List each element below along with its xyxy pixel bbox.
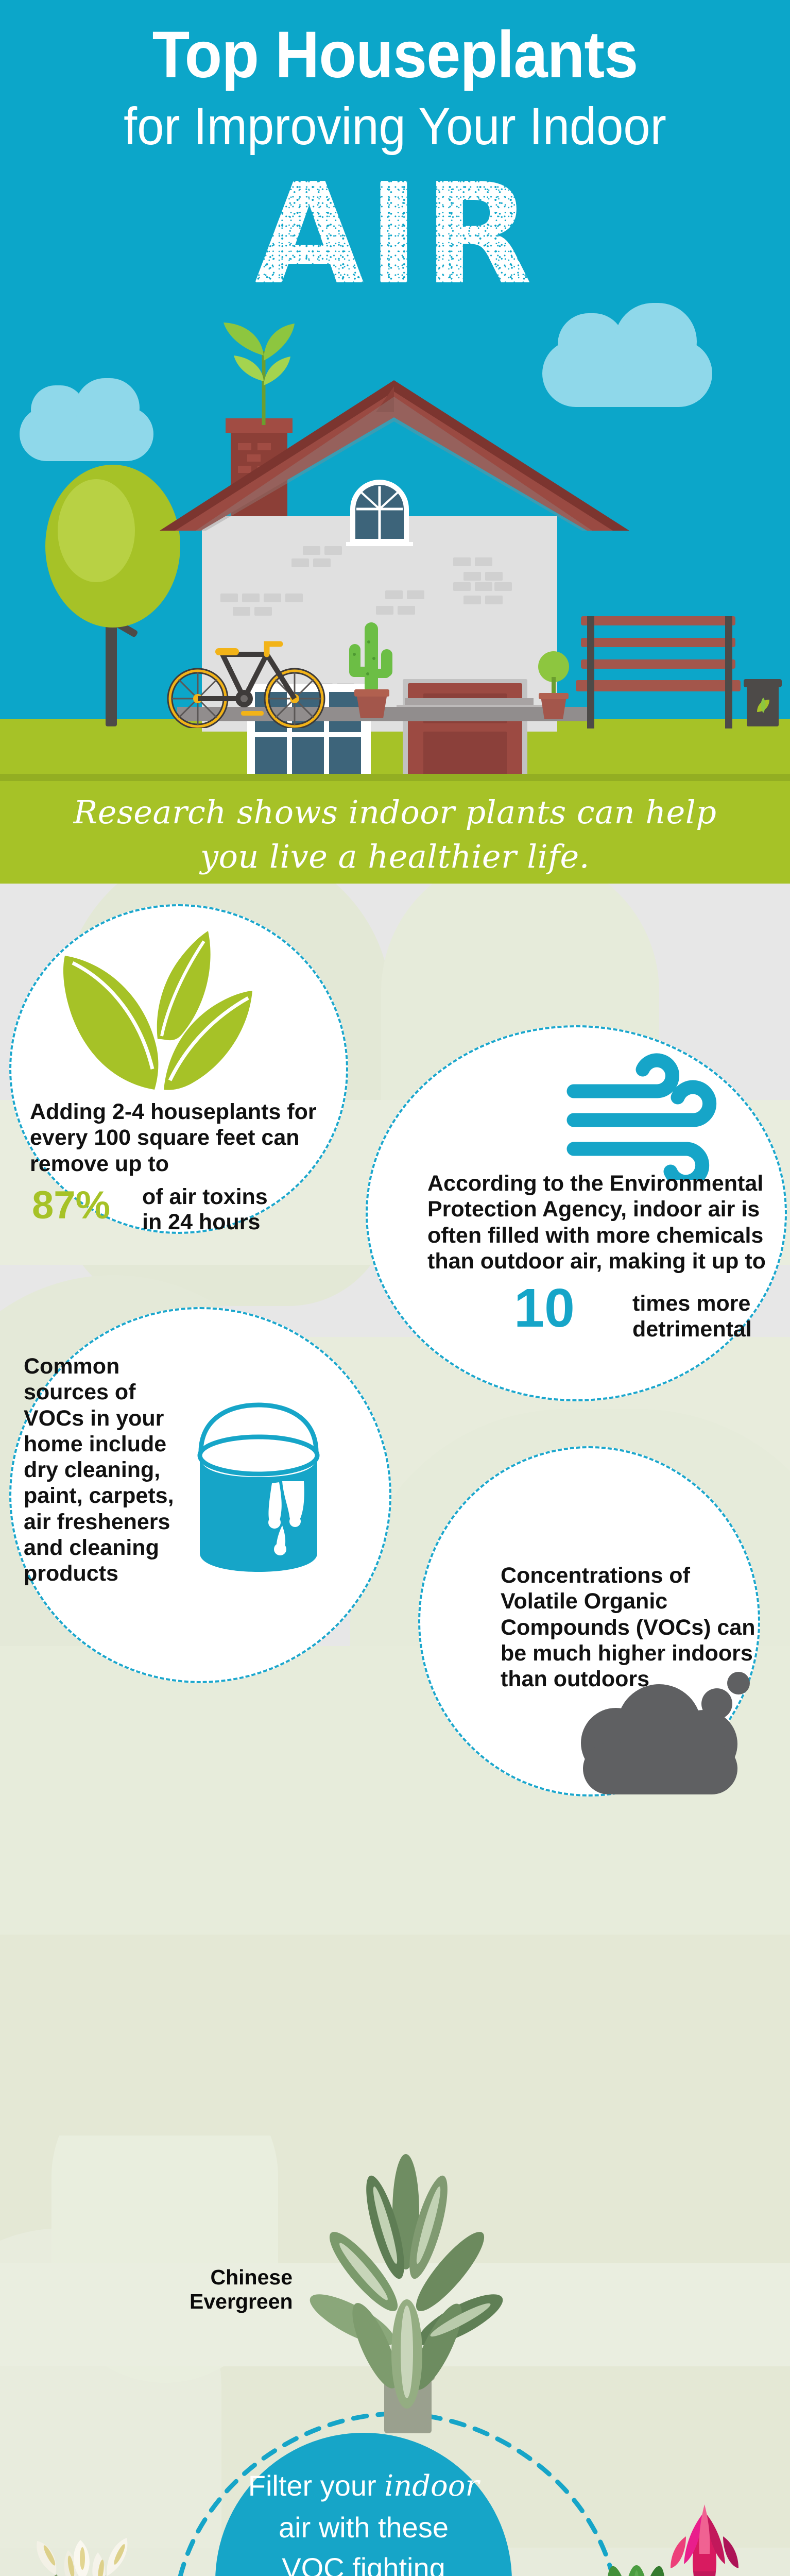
center-cta-text: Filter your indoor air with these VOC fi… (215, 2465, 512, 2576)
bromeliad-plant (627, 2476, 782, 2576)
smoke-cloud-icon (562, 1666, 759, 1800)
page-title-air: AIR (0, 165, 790, 304)
stat-text-air-toxins-after-1: of air toxins (142, 1184, 268, 1210)
page-title-line2: for Improving Your Indoor (31, 99, 758, 154)
cactus-icon (341, 617, 403, 720)
cloud-icon (20, 407, 153, 461)
stat-text-epa-after-2: detrimental (632, 1316, 752, 1342)
bench-icon (581, 616, 735, 625)
banner-text: Research shows indoor plants can help yo… (0, 790, 790, 878)
infographic-page: Top Houseplants for Improving Your Indoo… (0, 0, 790, 2576)
peace-lily-plant (5, 2452, 160, 2576)
cta-line-1b: indoor (384, 2469, 479, 2503)
stat-text-air-toxins-before: Adding 2-4 houseplants for every 100 squ… (30, 1099, 327, 1177)
cta-line-2: air with these (215, 2507, 512, 2548)
stat-value-10-times: 10 (514, 1283, 575, 1334)
header-section: Top Houseplants for Improving Your Indoo… (0, 0, 790, 774)
page-title-line1: Top Houseplants (28, 21, 763, 90)
label-line-2: Evergreen (190, 2290, 293, 2314)
stat-value-87-percent: 87% (32, 1188, 110, 1224)
plants-section: Chinese Evergreen (0, 2136, 790, 2576)
chinese-evergreen-plant (303, 2150, 509, 2444)
potted-plant-icon (530, 649, 577, 721)
cta-line-1a: Filter your (248, 2469, 385, 2502)
stat-text-epa: According to the Environmental Protectio… (427, 1171, 782, 1274)
stats-section: Adding 2-4 houseplants for every 100 squ… (0, 884, 790, 2136)
cta-line-3: VOC fighting (215, 2548, 512, 2576)
stat-text-epa-after-1: times more (632, 1291, 750, 1316)
air-word: AIR (254, 165, 536, 304)
snake-plant (56, 2567, 231, 2576)
bicycle-icon (166, 633, 331, 728)
label-line-1: Chinese (190, 2265, 293, 2290)
leaves-icon (40, 929, 267, 1094)
stat-text-air-toxins-after-2: in 24 hours (142, 1209, 260, 1235)
research-banner: Research shows indoor plants can help yo… (0, 774, 790, 884)
banner-line-2: you live a healthier life. (0, 835, 790, 879)
plant-label-chinese-evergreen: Chinese Evergreen (190, 2265, 293, 2314)
attic-window-icon (346, 479, 413, 546)
cta-line-1: Filter your indoor (215, 2465, 512, 2507)
wind-icon (566, 1051, 736, 1180)
stat-text-voc-sources: Common sources of VOCs in your home incl… (24, 1353, 178, 1587)
banner-line-1: Research shows indoor plants can help (0, 790, 790, 835)
paint-bucket-icon (181, 1399, 336, 1574)
dracaena-plant (520, 2563, 721, 2576)
bg-band (0, 1935, 790, 2136)
